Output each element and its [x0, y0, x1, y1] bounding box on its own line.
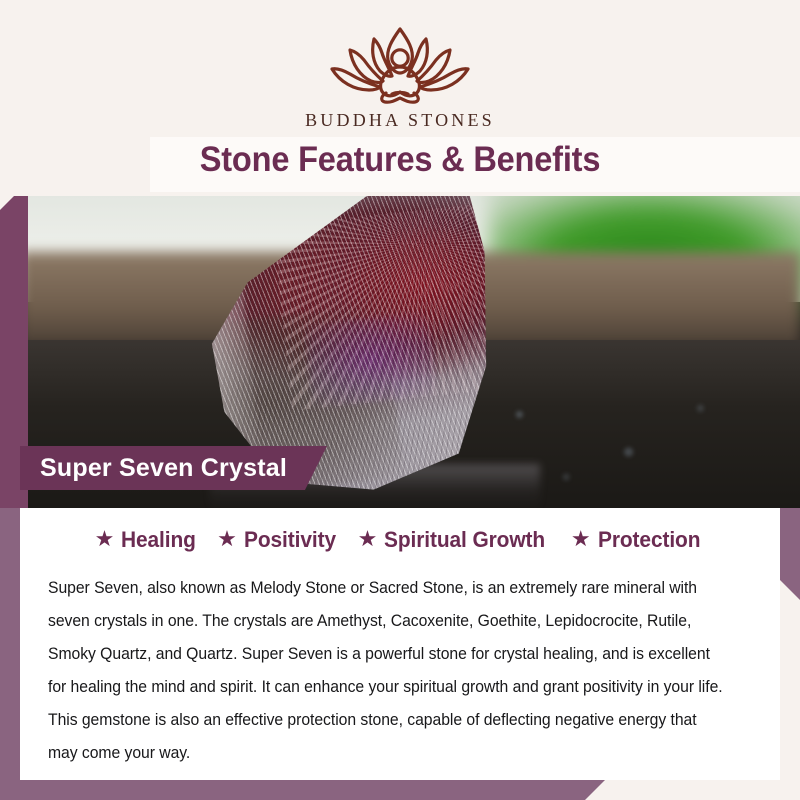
description-paragraph: Super Seven, also known as Melody Stone …	[48, 572, 724, 770]
star-icon: ★	[95, 528, 115, 550]
benefit-label: Protection	[598, 527, 700, 553]
frame-band-bottom	[0, 780, 605, 800]
star-icon: ★	[571, 528, 591, 550]
frame-band-left-lower	[0, 505, 20, 800]
photo-caption-label: Super Seven Crystal	[40, 454, 287, 483]
photo-caption-banner: Super Seven Crystal	[20, 446, 327, 490]
benefit-label: Spiritual Growth	[384, 527, 545, 553]
brand-name: BUDDHA STONES	[0, 110, 800, 131]
brand-logo: BUDDHA STONES	[0, 22, 800, 131]
benefit-label: Positivity	[244, 527, 336, 553]
benefit-item-protection: ★ Protection	[571, 527, 706, 553]
benefit-item-spiritual-growth: ★ Spiritual Growth	[358, 527, 554, 553]
benefit-label: Healing	[121, 527, 196, 553]
star-icon: ★	[217, 528, 237, 550]
lotus-meditation-icon	[312, 22, 488, 108]
page-title: Stone Features & Benefits	[28, 140, 772, 180]
benefit-item-positivity: ★ Positivity	[217, 527, 341, 553]
benefit-item-healing: ★ Healing	[95, 527, 201, 553]
benefits-row: ★ Healing ★ Positivity ★ Spiritual Growt…	[20, 508, 780, 553]
content-card: ★ Healing ★ Positivity ★ Spiritual Growt…	[20, 508, 780, 780]
star-icon: ★	[358, 528, 378, 550]
poster-header: BUDDHA STONES Stone Features & Benefits	[0, 0, 800, 198]
infographic-poster: BUDDHA STONES Stone Features & Benefits …	[0, 0, 800, 800]
